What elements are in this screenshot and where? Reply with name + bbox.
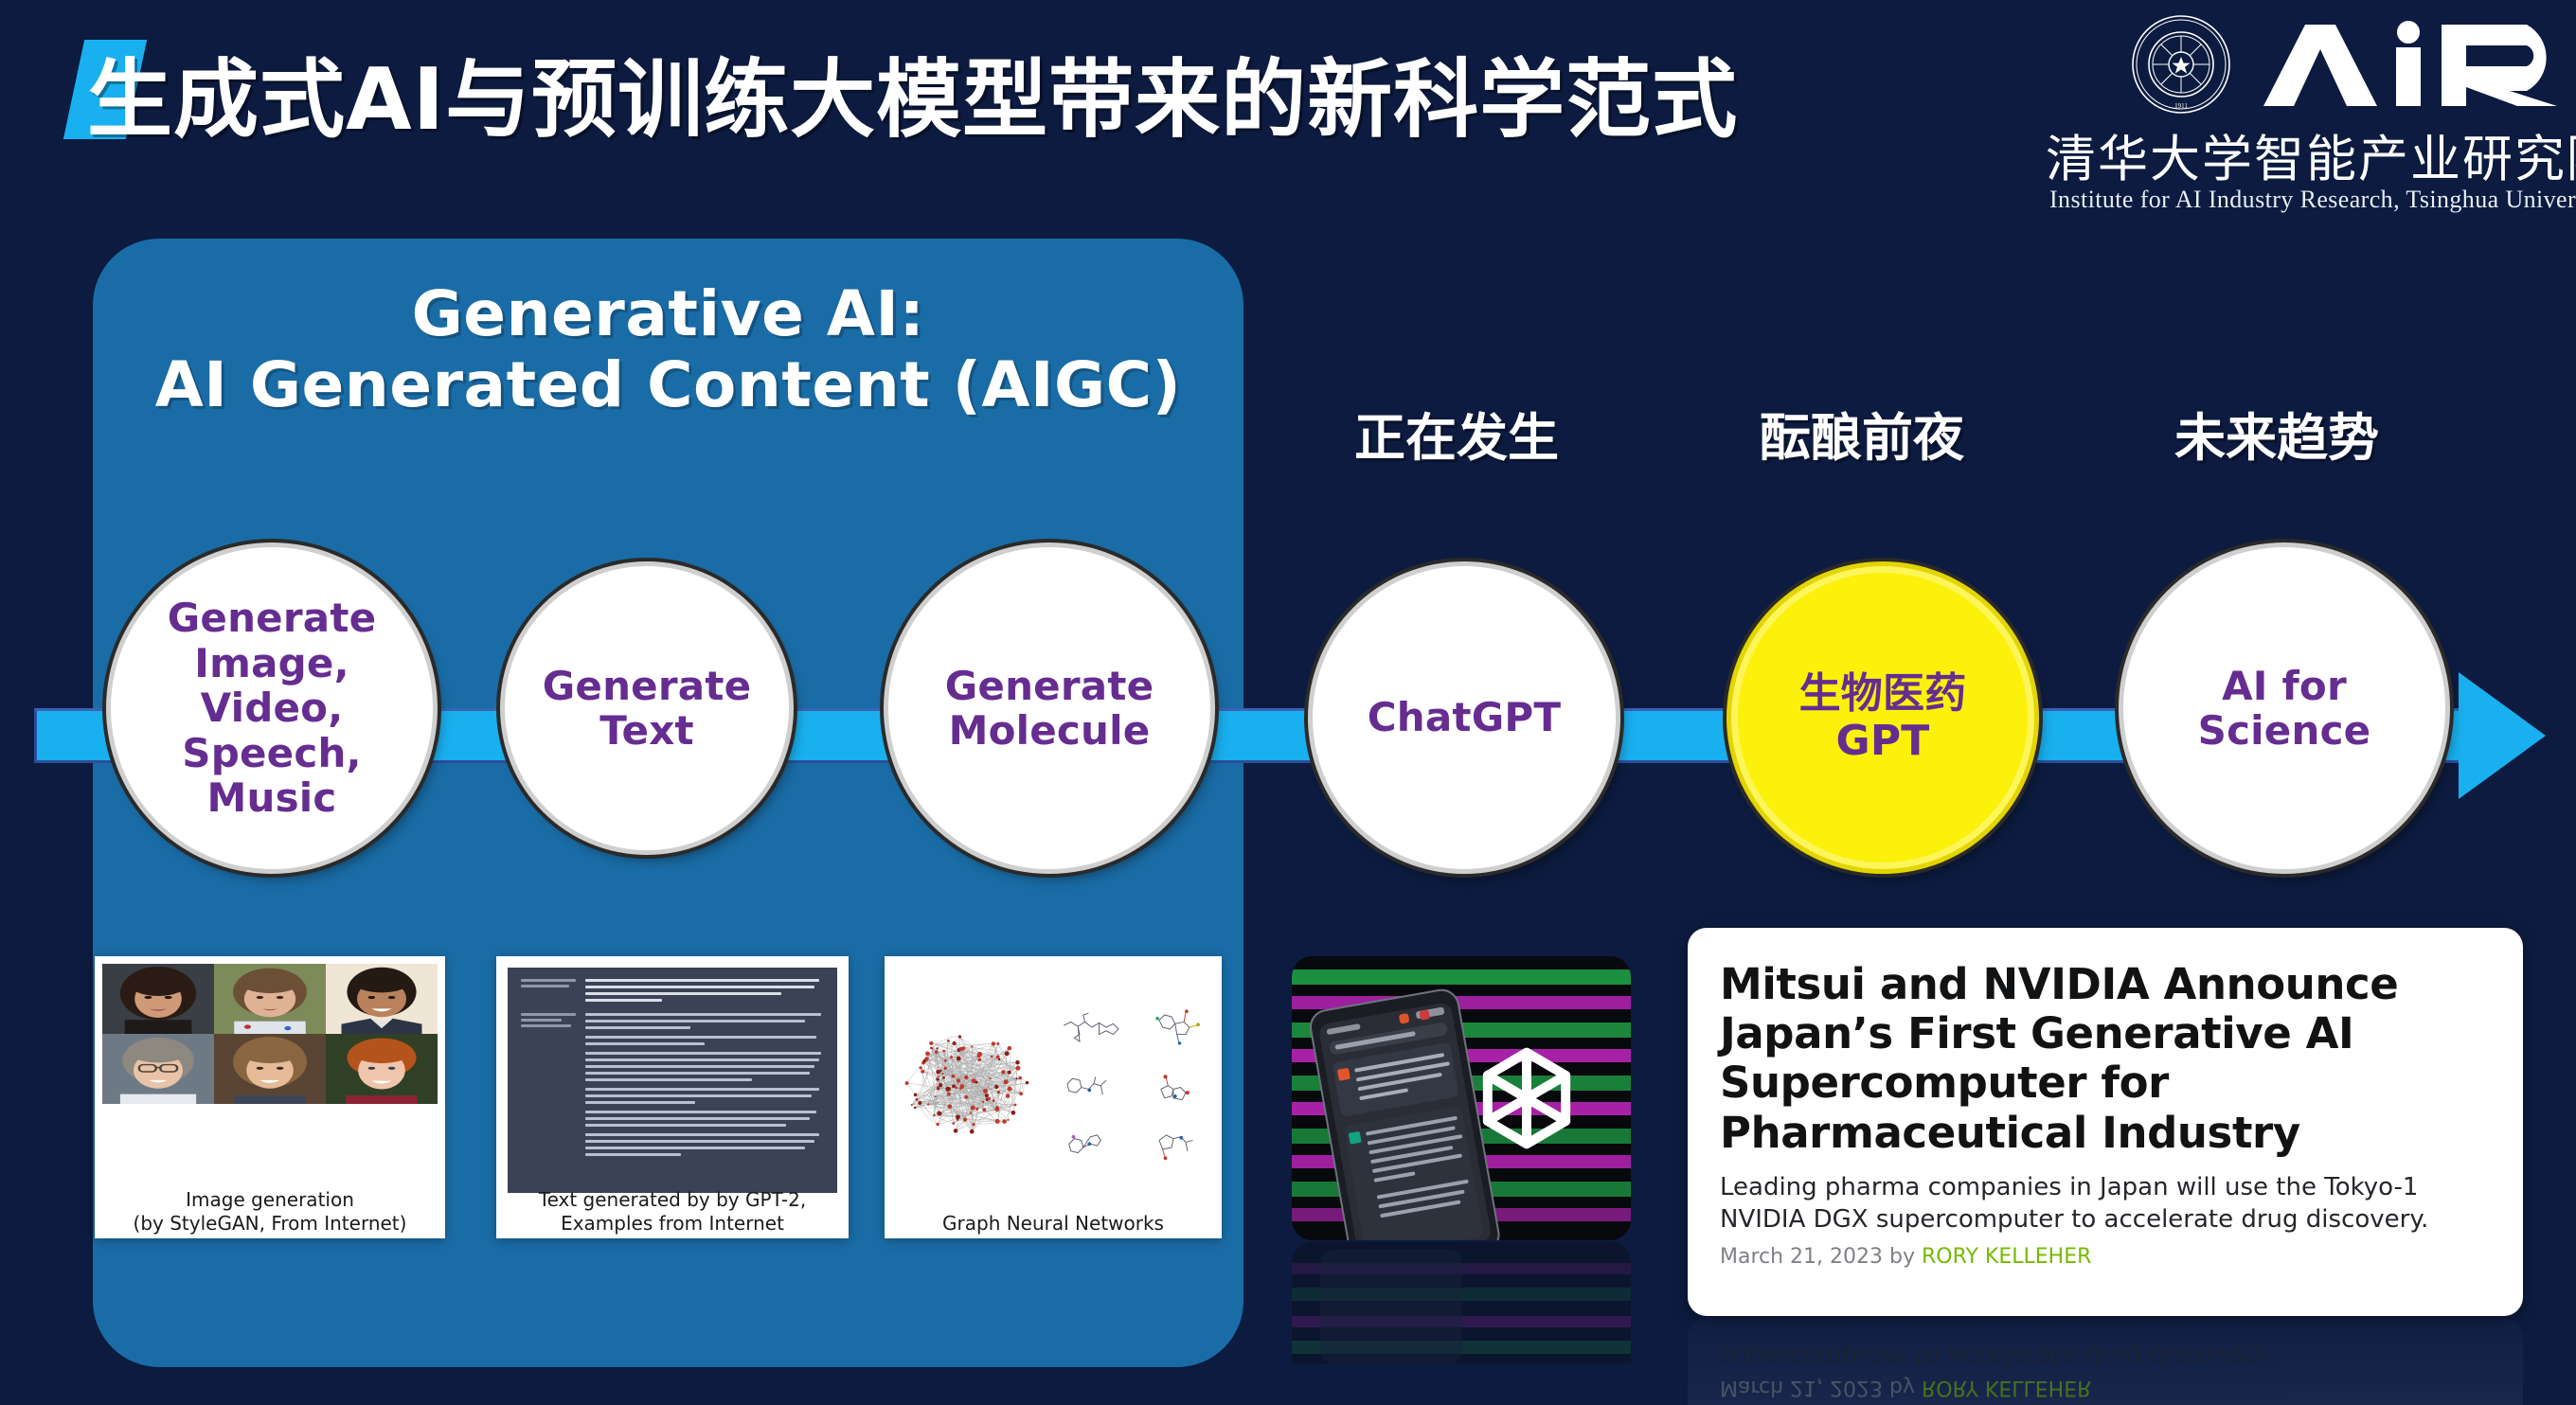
aigc-title-line1: Generative AI:	[93, 278, 1243, 349]
face-1	[102, 964, 214, 1034]
node-label-generate-text: GenerateText	[543, 664, 752, 754]
gpt2-completion-label	[521, 1013, 576, 1163]
molecule-generation-thumbnail: Graph Neural Networks	[885, 956, 1222, 1238]
column-heading-3: 未来趋势	[2174, 396, 2379, 471]
svg-text:1911: 1911	[2174, 102, 2188, 110]
gpt2-prompt-label	[521, 979, 576, 1005]
news-by-word-reflection: by	[1889, 1376, 1915, 1399]
face-2	[214, 964, 326, 1034]
stylegan-face-grid	[102, 964, 438, 1104]
page-title: 生成式AI与预训练大模型带来的新科学范式	[87, 30, 1738, 153]
slide-header: 生成式AI与预训练大模型带来的新科学范式	[0, 0, 2576, 237]
node-label-biomed-gpt: 生物医药GPT	[1799, 670, 1967, 764]
news-summary: Leading pharma companies in Japan will u…	[1720, 1171, 2491, 1236]
gpt2-sample-document	[508, 968, 837, 1193]
chatgpt-photo-tile	[1292, 956, 1631, 1240]
flow-arrow-head-icon	[2459, 672, 2546, 799]
gpt2-prompt-text	[585, 979, 824, 1005]
node-label-ai-for-science: AI forScience	[2198, 664, 2371, 754]
news-by-word: by	[1889, 1245, 1915, 1269]
nvidia-news-card[interactable]: Mitsui and NVIDIA Announce Japan’s First…	[1688, 928, 2523, 1316]
slide-root: 生成式AI与预训练大模型带来的新科学范式	[0, 0, 2576, 1405]
text-generation-thumbnail: Text generated by by GPT-2,Examples from…	[496, 956, 849, 1238]
node-generate-media[interactable]: GenerateImage,Video,Speech,Music	[111, 547, 433, 869]
institute-name-en: Institute for AI Industry Research, Tsin…	[2049, 186, 2576, 214]
node-label-generate-molecule: GenerateMolecule	[945, 664, 1154, 754]
news-author-reflection: RORY KELLEHER	[1922, 1376, 2091, 1399]
news-headline: Mitsui and NVIDIA Announce Japan’s First…	[1720, 960, 2491, 1158]
text-generation-caption: Text generated by by GPT-2,Examples from…	[496, 1188, 849, 1235]
node-biomed-gpt[interactable]: 生物医药GPT	[1731, 566, 2034, 869]
node-generate-text[interactable]: GenerateText	[505, 566, 789, 850]
graph-neural-network-figure	[894, 966, 1212, 1197]
institute-name-cn: 清华大学智能产业研究院	[2046, 119, 2576, 191]
news-date: March 21, 2023	[1720, 1245, 1883, 1269]
news-summary-reflection: supercomputer to accelerate drug discove…	[1720, 1340, 2491, 1372]
stripe-background	[1292, 956, 1631, 1240]
air-tsinghua-logo: 1911 清华大学智能产业研究院 Institute for AI Indust…	[1981, 13, 2568, 222]
image-generation-thumbnail: Image generation(by StyleGAN, From Inter…	[95, 956, 445, 1238]
face-6	[326, 1034, 438, 1104]
nvidia-news-card-reflection: March 21, 2023 by RORY KELLEHER supercom…	[1688, 1318, 2523, 1405]
column-heading-2: 酝酿前夜	[1760, 396, 1964, 471]
node-label-generate-media: GenerateImage,Video,Speech,Music	[168, 596, 377, 820]
tsinghua-seal-icon: 1911	[2131, 14, 2231, 115]
node-ai-for-science[interactable]: AI forScience	[2123, 547, 2445, 869]
air-wordmark	[2256, 19, 2576, 110]
image-generation-caption: Image generation(by StyleGAN, From Inter…	[95, 1188, 445, 1235]
face-4	[102, 1034, 214, 1104]
news-byline-reflection: March 21, 2023 by RORY KELLEHER	[1720, 1376, 2491, 1399]
node-label-chatgpt: ChatGPT	[1368, 695, 1561, 739]
column-heading-1: 正在发生	[1354, 396, 1559, 471]
molecule-generation-caption: Graph Neural Networks	[885, 1212, 1222, 1235]
node-chatgpt[interactable]: ChatGPT	[1313, 566, 1616, 869]
chatgpt-photo-reflection	[1292, 1242, 1631, 1363]
news-author[interactable]: RORY KELLEHER	[1922, 1245, 2091, 1269]
node-generate-molecule[interactable]: GenerateMolecule	[888, 547, 1210, 869]
aigc-title-line2: AI Generated Content (AIGC)	[93, 349, 1243, 420]
gpt2-completion-text	[585, 1013, 824, 1163]
face-3	[326, 964, 438, 1034]
news-date-reflection: March 21, 2023	[1720, 1376, 1883, 1399]
face-5	[214, 1034, 326, 1104]
news-byline: March 21, 2023 by RORY KELLEHER	[1720, 1245, 2491, 1269]
aigc-panel-title: Generative AI: AI Generated Content (AIG…	[93, 278, 1243, 420]
